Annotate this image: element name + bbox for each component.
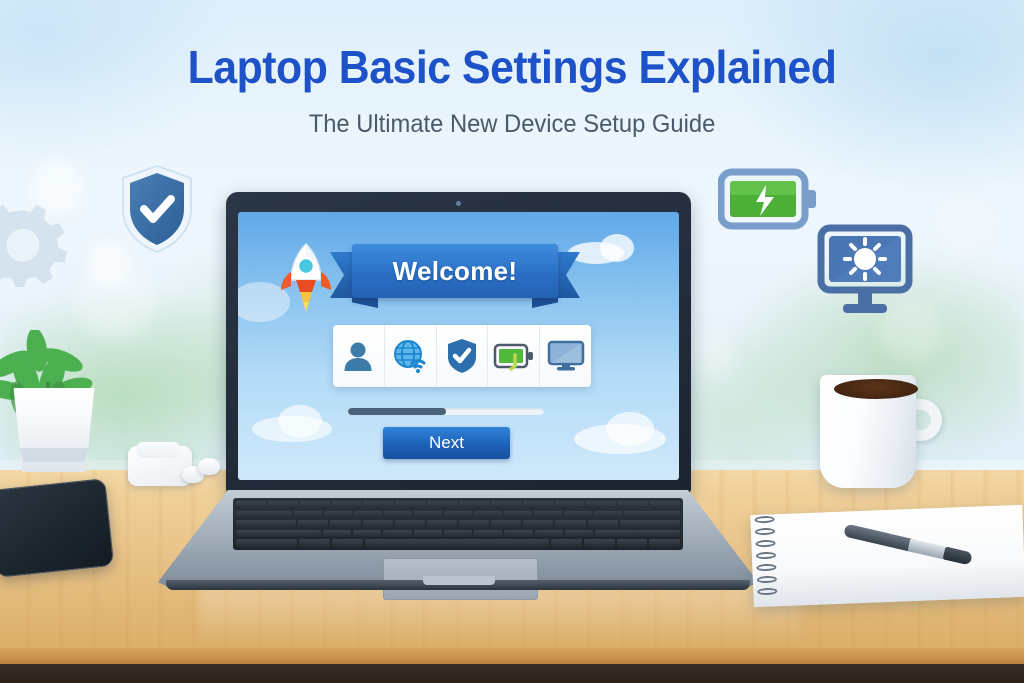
coffee-surface [834,379,918,399]
spiral-ring [756,564,776,572]
cloud-decoration [606,412,654,446]
keyboard-row [236,511,680,519]
keyboard-row [236,539,680,547]
notebook-spiral-binding [752,512,781,603]
cloud-decoration [600,234,634,262]
display-monitor-icon [547,340,585,372]
network-wifi-globe-icon [392,339,428,373]
bokeh-dot [940,200,990,250]
desk-edge [0,648,1024,664]
cloud-decoration [278,405,322,437]
settings-tile-network[interactable] [385,325,437,387]
spiral-notebook [750,505,1024,607]
user-account-icon [341,339,375,373]
webcam-icon [456,201,461,206]
spiral-ring [755,528,775,536]
settings-tile-power[interactable] [488,325,540,387]
keyboard-row [236,501,680,509]
laptop-screen: Welcome! [238,212,679,480]
page-title: Laptop Basic Settings Explained [36,40,988,94]
plant-pot-band [16,448,92,462]
keyboard-row [236,530,680,538]
coffee-mug [812,375,937,495]
welcome-banner: Welcome! [330,244,580,306]
settings-tile-display[interactable] [540,325,591,387]
rocket-icon [278,242,334,312]
earbuds-case [128,440,220,494]
desk-front-shadow [0,664,1024,683]
spiral-ring [757,588,777,596]
spiral-ring [756,552,776,560]
battery-power-icon [493,340,535,372]
spiral-ring [757,576,777,584]
hero-illustration: Laptop Basic Settings Explained The Ulti… [0,0,1024,683]
settings-icon-panel [333,325,591,387]
earbud [198,458,220,475]
settings-tile-security[interactable] [437,325,489,387]
setup-progress-fill [348,408,446,415]
security-shield-check-icon [447,338,477,374]
laptop: Welcome! [158,192,758,592]
laptop-keyboard[interactable] [233,498,683,550]
earbuds-case-lid [136,442,180,458]
banner-body: Welcome! [352,244,558,298]
settings-tile-account[interactable] [333,325,385,387]
next-button[interactable]: Next [383,427,510,459]
monitor-brightness-icon [815,218,915,318]
welcome-banner-label: Welcome! [352,244,558,298]
mug-body [820,375,916,488]
spiral-ring [755,540,775,548]
spiral-ring [754,516,774,524]
smartphone [0,478,114,578]
setup-progress-bar [348,408,544,415]
page-subtitle: The Ultimate New Device Setup Guide [26,110,999,139]
keyboard-row [236,520,680,528]
laptop-lid: Welcome! [226,192,691,494]
gear-icon [0,188,78,298]
laptop-front-notch [423,576,495,585]
